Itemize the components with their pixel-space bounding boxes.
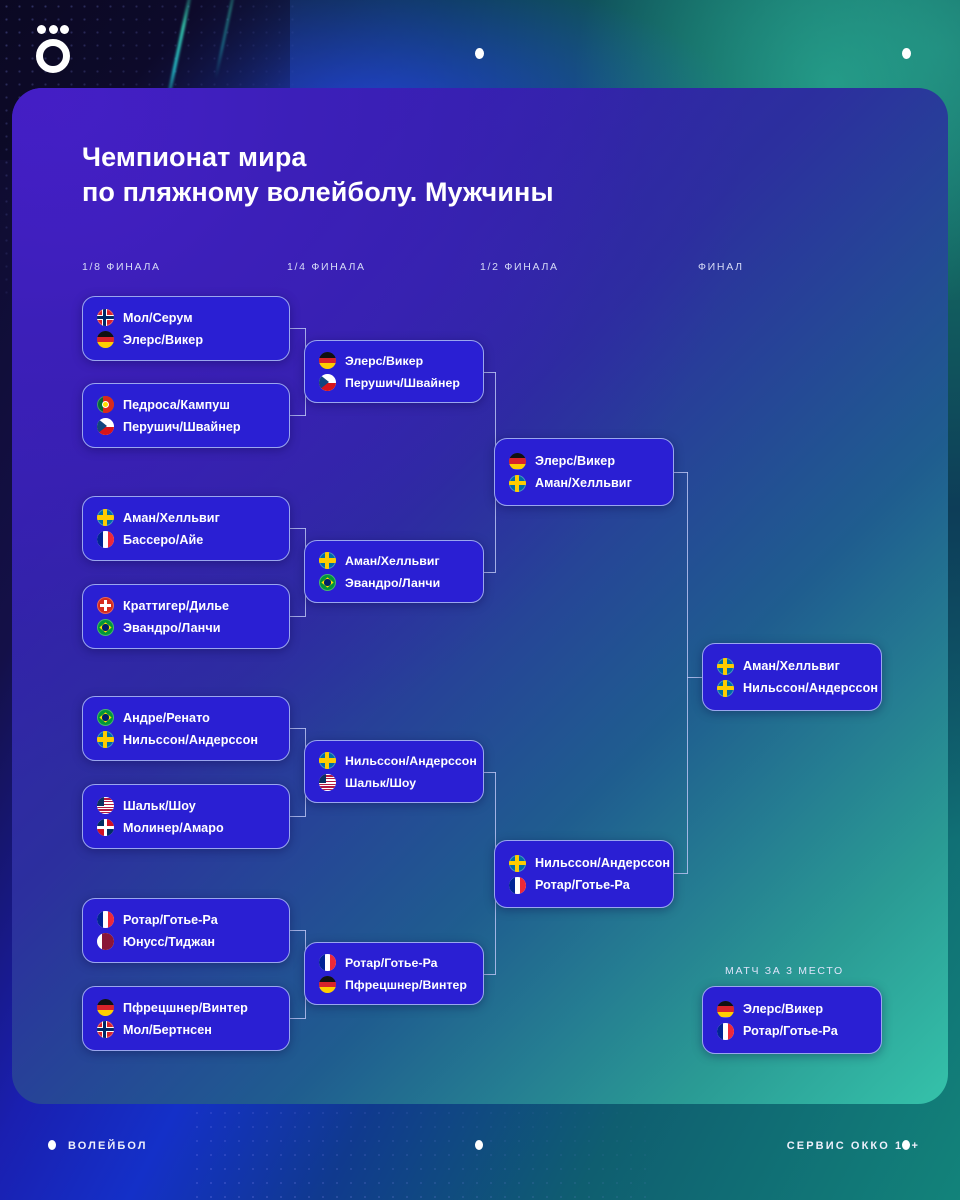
team-name: Перушич/Швайнер [345, 376, 460, 390]
team-row: Нильссон/Андерссон [97, 731, 275, 748]
team-row: Аман/Хелльвиг [319, 552, 469, 569]
flag-qa-icon [97, 933, 114, 950]
page-title: Чемпионат мира по пляжному волейболу. Му… [82, 140, 554, 209]
flag-cz-icon [97, 418, 114, 435]
team-row: Перушич/Швайнер [319, 374, 469, 391]
team-row: Краттигер/Дилье [97, 597, 275, 614]
footer-dot-icon [48, 1140, 56, 1150]
decorative-dot [475, 48, 484, 59]
flag-se-icon [319, 552, 336, 569]
team-row: Молинер/Амаро [97, 819, 275, 836]
team-row: Юнусс/Тиджан [97, 933, 275, 950]
decorative-dot [902, 48, 911, 59]
team-row: Эвандро/Ланчи [319, 574, 469, 591]
flag-se-icon [319, 752, 336, 769]
team-row: Перушич/Швайнер [97, 418, 275, 435]
flag-se-icon [717, 658, 734, 675]
team-row: Пфрецшнер/Винтер [97, 999, 275, 1016]
match-card-r16-6[interactable]: Шальк/Шоу Молинер/Амаро [82, 784, 290, 849]
flag-se-icon [97, 509, 114, 526]
team-row: Ротар/Готье-Ра [319, 954, 469, 971]
match-card-r16-4[interactable]: Краттигер/Дилье Эвандро/Ланчи [82, 584, 290, 649]
team-name: Андре/Ренато [123, 711, 210, 725]
connector [290, 415, 306, 416]
connector [290, 528, 306, 529]
flag-se-icon [717, 680, 734, 697]
team-name: Нильссон/Андерссон [535, 856, 670, 870]
team-row: Нильссон/Андерссон [509, 855, 659, 872]
flag-fr-icon [97, 531, 114, 548]
team-name: Шальк/Шоу [123, 799, 196, 813]
match-card-qf-2[interactable]: Аман/Хелльвиг Эвандро/Ланчи [304, 540, 484, 603]
flag-fr-icon [97, 911, 114, 928]
connector [290, 816, 306, 817]
logo-dot-icon [60, 25, 69, 34]
match-card-qf-4[interactable]: Ротар/Готье-Ра Пфрецшнер/Винтер [304, 942, 484, 1005]
match-card-r16-8[interactable]: Пфрецшнер/Винтер Мол/Бертнсен [82, 986, 290, 1051]
flag-us-icon [97, 797, 114, 814]
flag-fr-icon [319, 954, 336, 971]
match-card-r16-5[interactable]: Андре/Ренато Нильссон/Андерссон [82, 696, 290, 761]
team-row: Мол/Серум [97, 309, 275, 326]
flag-no-icon [97, 309, 114, 326]
connector [672, 472, 688, 473]
match-card-qf-3[interactable]: Нильссон/Андерссон Шальк/Шоу [304, 740, 484, 803]
match-card-final[interactable]: Аман/Хелльвиг Нильссон/Андерссон [702, 643, 882, 711]
match-card-r16-1[interactable]: Мол/Серум Элерс/Викер [82, 296, 290, 361]
team-name: Аман/Хелльвиг [345, 554, 440, 568]
flag-do-icon [97, 819, 114, 836]
footer-service-label: СЕРВИС ОККО 18+ [787, 1140, 920, 1152]
team-name: Ротар/Готье-Ра [123, 913, 218, 927]
team-row: Педроса/Кампуш [97, 396, 275, 413]
match-card-sf-2[interactable]: Нильссон/Андерссон Ротар/Готье-Ра [494, 840, 674, 908]
flag-cz-icon [319, 374, 336, 391]
team-name: Элерс/Викер [123, 333, 203, 347]
flag-de-icon [97, 331, 114, 348]
team-name: Элерс/Викер [535, 454, 615, 468]
team-name: Перушич/Швайнер [123, 420, 241, 434]
team-name: Бассеро/Айе [123, 533, 203, 547]
connector [290, 328, 306, 329]
team-row: Аман/Хелльвиг [717, 658, 867, 675]
team-name: Аман/Хелльвиг [123, 511, 220, 525]
flag-de-icon [97, 999, 114, 1016]
flag-de-icon [319, 976, 336, 993]
logo-ring-icon [36, 39, 70, 73]
team-row: Пфрецшнер/Винтер [319, 976, 469, 993]
team-name: Аман/Хелльвиг [743, 659, 840, 673]
connector [290, 1018, 306, 1019]
team-name: Аман/Хелльвиг [535, 476, 632, 490]
round-header-qf: 1/4 ФИНАЛА [287, 261, 366, 273]
round-header-sf: 1/2 ФИНАЛА [480, 261, 559, 273]
flag-se-icon [509, 855, 526, 872]
match-card-r16-7[interactable]: Ротар/Готье-Ра Юнусс/Тиджан [82, 898, 290, 963]
flag-us-icon [319, 774, 336, 791]
team-name: Нильссон/Андерссон [743, 681, 878, 695]
team-name: Ротар/Готье-Ра [345, 956, 438, 970]
team-name: Ротар/Готье-Ра [535, 878, 630, 892]
match-card-r16-2[interactable]: Педроса/Кампуш Перушич/Швайнер [82, 383, 290, 448]
round-header-final: ФИНАЛ [698, 261, 744, 273]
team-name: Элерс/Викер [345, 354, 423, 368]
round-header-r16: 1/8 ФИНАЛА [82, 261, 161, 273]
team-row: Шальк/Шоу [97, 797, 275, 814]
match-card-third-place[interactable]: Элерс/Викер Ротар/Готье-Ра [702, 986, 882, 1054]
footer-sport-label: ВОЛЕЙБОЛ [68, 1140, 148, 1152]
team-name: Краттигер/Дилье [123, 599, 229, 613]
team-name: Пфрецшнер/Винтер [123, 1001, 248, 1015]
team-row: Ротар/Готье-Ра [509, 877, 659, 894]
logo-dot-icon [37, 25, 46, 34]
team-name: Педроса/Кампуш [123, 398, 230, 412]
team-row: Нильссон/Андерссон [319, 752, 469, 769]
team-name: Пфрецшнер/Винтер [345, 978, 467, 992]
connector [687, 472, 688, 873]
team-row: Андре/Ренато [97, 709, 275, 726]
team-name: Мол/Бертнсен [123, 1023, 212, 1037]
team-row: Элерс/Викер [509, 453, 659, 470]
team-row: Мол/Бертнсен [97, 1021, 275, 1038]
flag-fr-icon [717, 1023, 734, 1040]
bracket-panel: Чемпионат мира по пляжному волейболу. Му… [12, 88, 948, 1104]
flag-ch-icon [97, 597, 114, 614]
team-name: Ротар/Готье-Ра [743, 1024, 838, 1038]
footer-dot-icon [902, 1140, 910, 1150]
team-row: Бассеро/Айе [97, 531, 275, 548]
team-name: Нильссон/Андерссон [123, 733, 258, 747]
team-name: Элерс/Викер [743, 1002, 823, 1016]
footer-dot-icon [475, 1140, 483, 1150]
logo-dot-icon [49, 25, 58, 34]
connector [687, 677, 703, 678]
flag-br-icon [97, 709, 114, 726]
match-card-sf-1[interactable]: Элерс/Викер Аман/Хелльвиг [494, 438, 674, 506]
team-name: Нильссон/Андерссон [345, 754, 477, 768]
match-card-r16-3[interactable]: Аман/Хелльвиг Бассеро/Айе [82, 496, 290, 561]
flag-no-icon [97, 1021, 114, 1038]
connector [290, 728, 306, 729]
flag-se-icon [509, 475, 526, 492]
team-row: Ротар/Готье-Ра [717, 1023, 867, 1040]
match-card-qf-1[interactable]: Элерс/Викер Перушич/Швайнер [304, 340, 484, 403]
flag-pt-icon [97, 396, 114, 413]
team-row: Эвандро/Ланчи [97, 619, 275, 636]
team-row: Шальк/Шоу [319, 774, 469, 791]
flag-de-icon [717, 1001, 734, 1018]
team-name: Юнусс/Тиджан [123, 935, 215, 949]
bracket-infographic: Чемпионат мира по пляжному волейболу. Му… [0, 0, 960, 1200]
connector [290, 930, 306, 931]
team-name: Эвандро/Ланчи [345, 576, 440, 590]
flag-de-icon [509, 453, 526, 470]
team-row: Аман/Хелльвиг [97, 509, 275, 526]
team-name: Мол/Серум [123, 311, 193, 325]
team-name: Эвандро/Ланчи [123, 621, 221, 635]
flag-br-icon [319, 574, 336, 591]
team-row: Элерс/Викер [97, 331, 275, 348]
team-row: Нильссон/Андерссон [717, 680, 867, 697]
flag-de-icon [319, 352, 336, 369]
flag-se-icon [97, 731, 114, 748]
team-name: Молинер/Амаро [123, 821, 224, 835]
connector [672, 873, 688, 874]
team-row: Аман/Хелльвиг [509, 475, 659, 492]
okko-logo-icon [32, 24, 76, 74]
flag-fr-icon [509, 877, 526, 894]
connector [290, 616, 306, 617]
team-row: Элерс/Викер [319, 352, 469, 369]
third-place-label: МАТЧ ЗА 3 МЕСТО [725, 965, 844, 977]
team-name: Шальк/Шоу [345, 776, 416, 790]
team-row: Элерс/Викер [717, 1001, 867, 1018]
team-row: Ротар/Готье-Ра [97, 911, 275, 928]
flag-br-icon [97, 619, 114, 636]
